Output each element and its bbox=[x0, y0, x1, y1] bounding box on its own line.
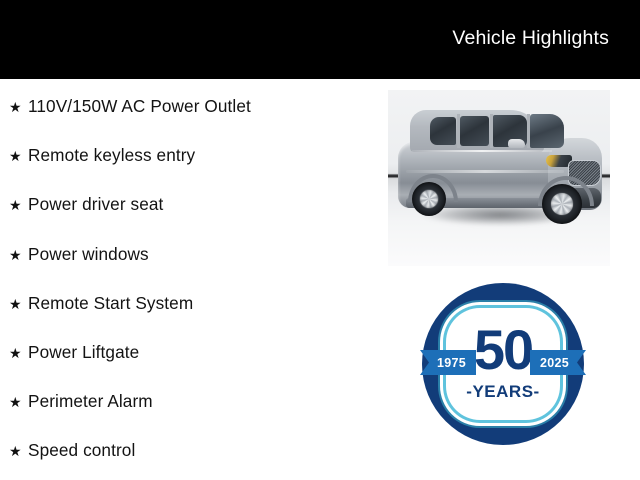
badge-years-label: -YEARS- bbox=[446, 383, 560, 400]
rear-door-window bbox=[460, 116, 489, 146]
list-item-label: Perimeter Alarm bbox=[28, 391, 153, 412]
body-crease bbox=[406, 170, 564, 173]
b-pillar bbox=[490, 114, 493, 148]
anniversary-badge: 50 -YEARS- 1975 2025 bbox=[422, 283, 584, 445]
list-item-label: Remote Start System bbox=[28, 293, 193, 314]
list-item: ★ Power windows bbox=[0, 230, 375, 279]
list-item-label: Power driver seat bbox=[28, 194, 163, 215]
rear-window bbox=[430, 117, 456, 145]
vehicle-highlights-list: ★ 110V/150W AC Power Outlet ★ Remote key… bbox=[0, 82, 375, 476]
star-icon: ★ bbox=[9, 296, 28, 311]
star-icon: ★ bbox=[9, 148, 28, 163]
star-icon: ★ bbox=[9, 99, 28, 114]
list-item-label: Power Liftgate bbox=[28, 342, 139, 363]
star-icon: ★ bbox=[9, 197, 28, 212]
side-mirror bbox=[508, 139, 525, 148]
list-item-label: Speed control bbox=[28, 440, 135, 461]
list-item: ★ Power Liftgate bbox=[0, 328, 375, 377]
rear-wheel-hub bbox=[420, 190, 438, 208]
list-item: ★ Remote Start System bbox=[0, 279, 375, 328]
list-item: ★ 110V/150W AC Power Outlet bbox=[0, 82, 375, 131]
a-pillar bbox=[527, 114, 530, 148]
rear-wheel bbox=[412, 182, 446, 216]
start-year-label: 1975 bbox=[437, 356, 466, 370]
header-bar: Vehicle Highlights bbox=[0, 0, 640, 79]
list-item: ★ Perimeter Alarm bbox=[0, 377, 375, 426]
windshield bbox=[530, 114, 564, 148]
list-item-label: Power windows bbox=[28, 244, 149, 265]
vehicle-photo bbox=[388, 90, 610, 266]
list-item-label: 110V/150W AC Power Outlet bbox=[28, 96, 251, 117]
c-pillar bbox=[457, 114, 460, 148]
front-wheel bbox=[542, 184, 582, 224]
suv-illustration bbox=[396, 108, 604, 233]
front-wheel-hub bbox=[551, 193, 573, 215]
list-item: ★ Power driver seat bbox=[0, 180, 375, 229]
list-item-label: Remote keyless entry bbox=[28, 145, 195, 166]
end-year-label: 2025 bbox=[540, 356, 569, 370]
beltline-trim bbox=[412, 150, 552, 152]
list-item: ★ Remote keyless entry bbox=[0, 131, 375, 180]
page-title: Vehicle Highlights bbox=[452, 27, 609, 52]
star-icon: ★ bbox=[9, 443, 28, 458]
star-icon: ★ bbox=[9, 247, 28, 262]
star-icon: ★ bbox=[9, 345, 28, 360]
star-icon: ★ bbox=[9, 394, 28, 409]
list-item: ★ Speed control bbox=[0, 426, 375, 475]
